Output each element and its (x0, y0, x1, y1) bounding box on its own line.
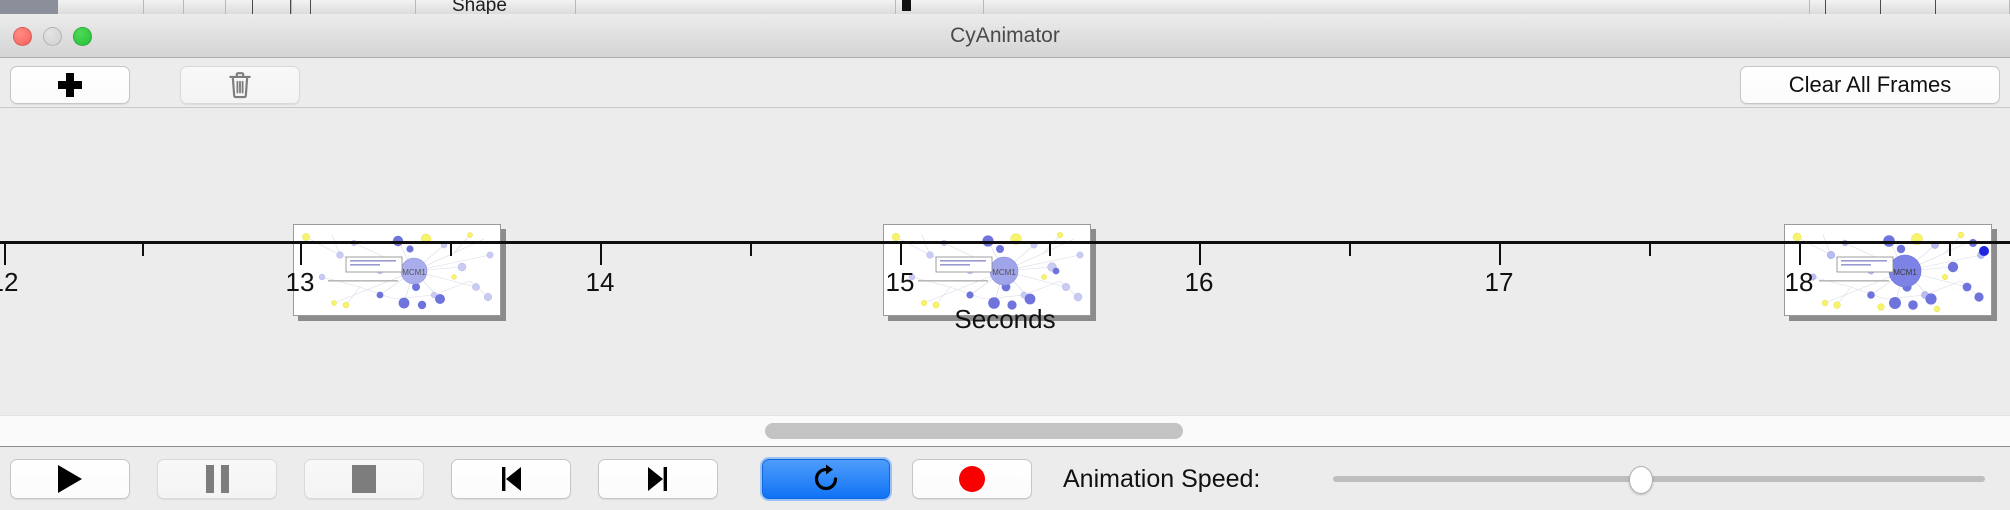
animation-speed-slider[interactable] (1333, 459, 1985, 499)
slider-track[interactable] (1333, 476, 1985, 482)
add-frame-button[interactable] (10, 66, 130, 104)
play-icon (58, 465, 82, 493)
pause-icon (206, 465, 229, 493)
playback-controls: Animation Speed: (0, 448, 2010, 510)
axis-tick-major (4, 244, 6, 265)
slider-thumb[interactable] (1629, 466, 1653, 494)
title-bar: CyAnimator (0, 14, 2010, 58)
axis-tick-major (1199, 244, 1201, 265)
axis-tick-minor (142, 244, 144, 256)
window-title: CyAnimator (0, 14, 2010, 58)
record-button[interactable] (912, 459, 1032, 499)
background-window-label: Shape (452, 0, 507, 14)
axis-label: 12 (0, 267, 18, 298)
skip-forward-icon (645, 465, 671, 493)
axis-tick-minor (750, 244, 752, 256)
network-graph-pale-2: MCM1 (884, 225, 1090, 315)
toolbar: Clear All Frames (0, 58, 2010, 108)
svg-text:MCM1: MCM1 (992, 268, 1016, 277)
timeline-scrollbar[interactable] (0, 415, 2010, 447)
network-graph-pale: MCM1 (294, 225, 500, 315)
skip-back-icon (498, 465, 524, 493)
plus-icon (57, 72, 83, 98)
frame-thumbnail-1[interactable]: MCM1 (293, 224, 506, 321)
axis-label: 17 (1485, 267, 1514, 298)
clear-all-frames-button[interactable]: Clear All Frames (1740, 66, 2000, 104)
thumbnail-sheet: MCM1 (1784, 224, 1992, 316)
background-window-strip: Shape (0, 0, 2010, 14)
axis-tick-major (1499, 244, 1501, 265)
loop-button[interactable] (762, 459, 890, 499)
animation-speed-label: Animation Speed: (1063, 459, 1260, 499)
stop-icon (352, 465, 376, 493)
scrollbar-thumb[interactable] (765, 423, 1183, 439)
trash-icon (227, 71, 253, 99)
network-graph-saturated: MCM1 (1785, 225, 1991, 315)
cyanimator-window: Shape CyAnimator Clear All Frames (0, 0, 2010, 510)
thumbnail-sheet: MCM1 (293, 224, 501, 316)
play-button[interactable] (10, 459, 130, 499)
background-window-toolbar (0, 0, 58, 14)
network-center-label: MCM1 (402, 268, 426, 277)
thumbnail-sheet: MCM1 (883, 224, 1091, 316)
pause-button[interactable] (157, 459, 277, 499)
delete-frame-button[interactable] (180, 66, 300, 104)
frame-thumbnail-2[interactable]: MCM1 (883, 224, 1096, 321)
skip-to-start-button[interactable] (451, 459, 571, 499)
axis-tick-major (600, 244, 602, 265)
frame-thumbnail-3[interactable]: MCM1 (1784, 224, 1997, 321)
svg-text:MCM1: MCM1 (1893, 268, 1917, 277)
axis-label: 14 (586, 267, 615, 298)
timeline-panel[interactable]: MCM1 (0, 109, 2010, 415)
stop-button[interactable] (304, 459, 424, 499)
skip-to-end-button[interactable] (598, 459, 718, 499)
axis-label: 16 (1185, 267, 1214, 298)
axis-tick-minor (1349, 244, 1351, 256)
clear-all-frames-label: Clear All Frames (1789, 72, 1952, 98)
record-icon (959, 466, 985, 492)
loop-icon (811, 464, 841, 494)
axis-tick-minor (1649, 244, 1651, 256)
